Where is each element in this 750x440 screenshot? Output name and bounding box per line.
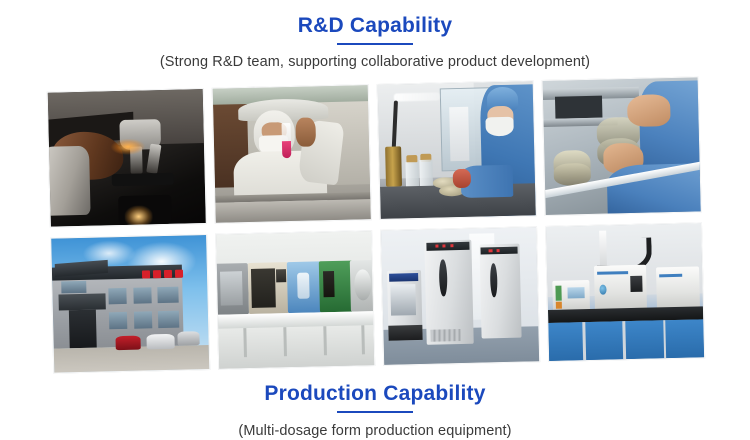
microscope-stage <box>112 173 174 187</box>
chromatograph-left <box>552 280 590 313</box>
cabinet-light <box>393 93 440 102</box>
stability-chamber-second-window <box>490 263 497 297</box>
cabinet-recess <box>555 96 602 119</box>
oven-green <box>319 261 354 313</box>
sterilizer-door <box>354 269 372 301</box>
parked-car-red <box>115 336 140 350</box>
parked-car-white <box>146 334 174 349</box>
photo-cleanroom-test-tube[interactable] <box>212 84 372 224</box>
sterilizer-white <box>350 260 375 312</box>
building-window-3 <box>133 287 152 304</box>
sign-character-2 <box>153 270 161 278</box>
chromatograph-center-brand-strip <box>597 271 629 275</box>
rd-production-capability-page: R&D Capability (Strong R&D team, support… <box>0 0 750 440</box>
bench-leg-4 <box>361 325 365 355</box>
chromatograph-center-dial <box>599 285 607 295</box>
sign-character-1 <box>142 270 150 278</box>
chromatograph-right-brand-strip <box>659 274 682 278</box>
stability-chamber-main-vent <box>431 329 461 342</box>
photo-drying-ovens[interactable] <box>215 230 375 370</box>
photo-facility-building[interactable] <box>50 234 210 374</box>
worker-hand-upper <box>627 94 671 127</box>
brass-cylinder <box>385 146 401 187</box>
photo-chambers-scene <box>381 227 539 365</box>
photo-gas-chromatograph[interactable] <box>545 222 705 362</box>
incubator-small-display <box>389 273 419 282</box>
oven-gray-door <box>220 271 243 306</box>
stability-chamber-main <box>425 239 474 345</box>
building-window-6 <box>133 311 152 329</box>
blue-storage-cabinets <box>548 320 704 361</box>
stability-chamber-main-display <box>427 242 470 251</box>
oven-beige-control-panel <box>276 269 286 282</box>
photo-cleanroom-scene <box>213 85 371 223</box>
gallery-row-production <box>50 222 705 373</box>
lab-coat-sleeve <box>47 145 91 216</box>
photo-biosafety-cabinet[interactable] <box>377 80 537 220</box>
chromatograph-center <box>593 265 647 312</box>
worker-fingers <box>296 117 317 147</box>
chromatograph-left-indicator-green <box>555 285 561 301</box>
building-window-4 <box>158 287 179 304</box>
entrance-canopy <box>59 294 106 311</box>
photo-microscope-scene <box>48 89 206 227</box>
rd-title-underline <box>337 43 413 45</box>
photo-petri-dishes[interactable] <box>542 76 702 216</box>
sign-character-4 <box>175 269 183 277</box>
rd-capability-subtitle: (Strong R&D team, supporting collaborati… <box>0 54 750 71</box>
cleanroom-floor <box>215 199 370 223</box>
parked-car-silver <box>177 332 199 346</box>
building-entrance <box>68 310 97 348</box>
lab-worker-glove <box>452 168 471 187</box>
lab-worker-mask <box>485 117 513 136</box>
oven-blue-window <box>297 272 309 299</box>
photo-chromatograph-scene <box>546 223 704 361</box>
bench-leg-2 <box>283 327 287 357</box>
building-window-5 <box>109 312 128 330</box>
bench-leg-1 <box>243 328 247 358</box>
photo-stability-chambers[interactable] <box>380 226 540 366</box>
inner-door <box>449 107 469 161</box>
display-led-2 <box>442 244 445 247</box>
sample-vial-2 <box>420 160 433 186</box>
building-window-2 <box>108 288 127 305</box>
chromatograph-left-indicator-orange <box>555 301 561 308</box>
incubator-small <box>387 270 423 340</box>
rd-capability-title: R&D Capability <box>0 14 750 37</box>
oven-beige-door <box>251 268 275 308</box>
bench-leg-3 <box>324 326 328 356</box>
photo-building-scene <box>51 235 209 373</box>
stability-chamber-main-window <box>439 259 447 297</box>
stability-chamber-second <box>479 244 521 339</box>
production-title-underline <box>337 411 413 413</box>
oven-beige <box>248 263 289 315</box>
display-led-1 <box>435 244 438 247</box>
stage-illuminator-glow <box>125 205 153 227</box>
capability-photo-gallery <box>47 76 706 379</box>
incubator-small-window <box>390 284 416 315</box>
production-capability-subtitle: (Multi-dosage form production equipment) <box>0 423 750 440</box>
gallery-row-rd <box>47 76 702 227</box>
chromatograph-right <box>656 266 700 310</box>
incubator-small-base <box>388 324 422 340</box>
production-capability-heading: Production Capability (Multi-dosage form… <box>0 382 750 440</box>
building-window-1 <box>61 281 86 294</box>
chromatograph-center-display <box>631 276 643 292</box>
oven-green-window <box>323 271 335 298</box>
photo-microscope[interactable] <box>47 88 207 228</box>
display-led-3 <box>450 244 453 247</box>
photo-ovens-scene <box>216 231 374 369</box>
lamp-glow <box>111 139 145 156</box>
photo-biosafety-scene <box>378 81 536 219</box>
chromatograph-left-screen <box>567 287 584 299</box>
test-tube-reagent <box>282 141 292 159</box>
sample-vial-1 <box>406 162 419 186</box>
building-window-7 <box>158 311 179 329</box>
oven-gray <box>215 263 249 315</box>
sign-character-3 <box>164 269 172 277</box>
bench-underside <box>218 325 374 369</box>
second-display-led-2 <box>496 249 499 252</box>
oven-blue <box>287 262 322 314</box>
photo-petri-scene <box>543 77 701 215</box>
second-display-led-1 <box>489 249 492 252</box>
rooftop-sign <box>142 267 204 279</box>
rd-capability-heading: R&D Capability (Strong R&D team, support… <box>0 14 750 71</box>
production-capability-title: Production Capability <box>0 382 750 405</box>
